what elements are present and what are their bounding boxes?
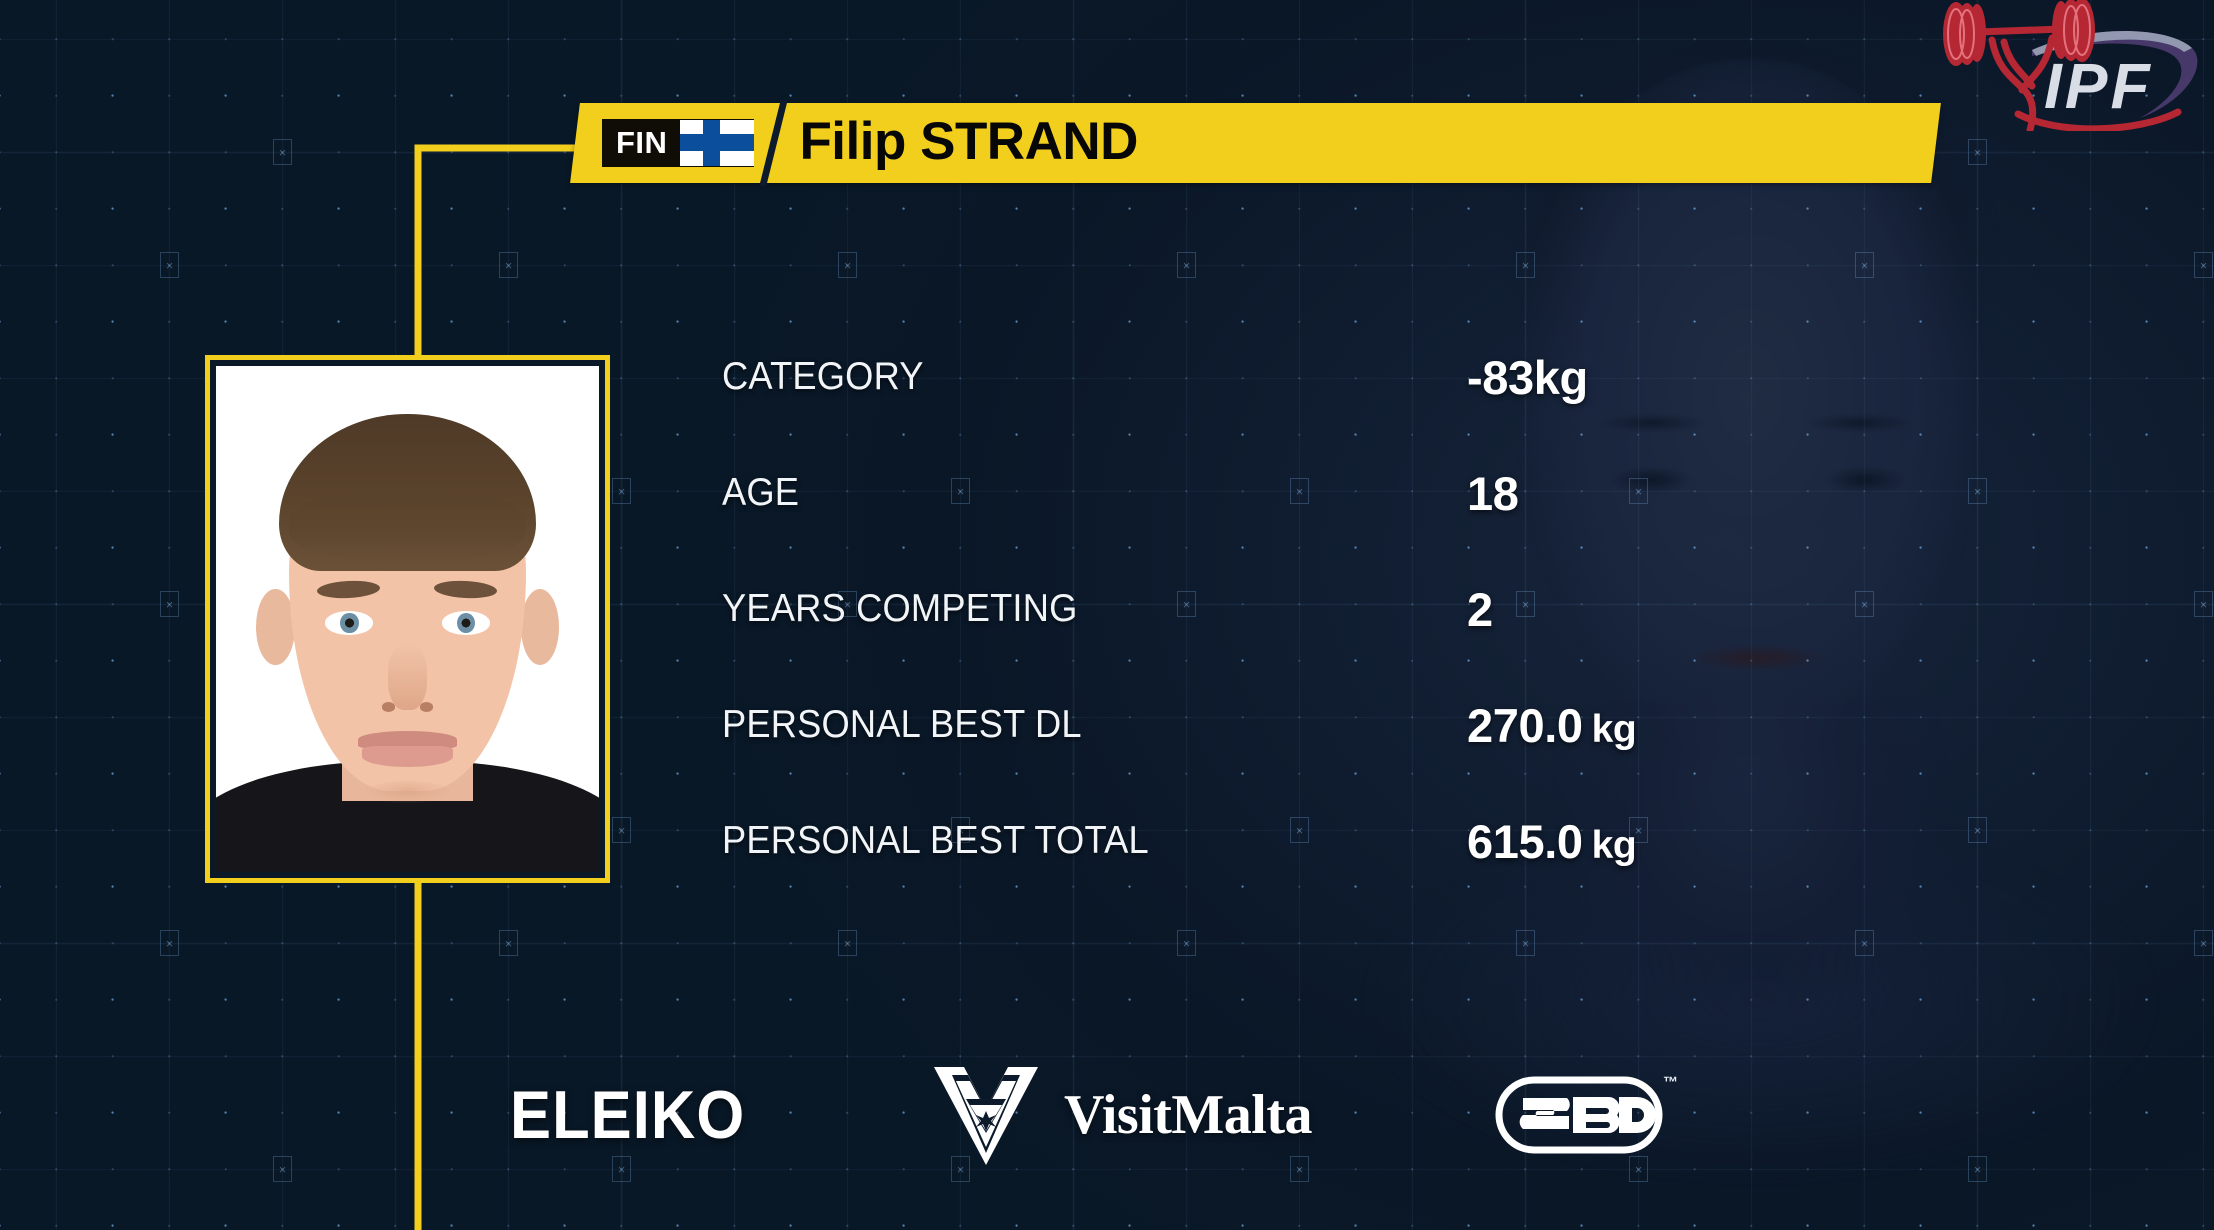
country-badge: FIN [602,119,754,167]
grid-x-marker: × [2194,252,2213,278]
athlete-stats-list: CATEGORY-83kgAGE18YEARS COMPETING2PERSON… [722,355,1872,935]
finland-flag-icon [680,120,754,166]
grid-x-marker: × [160,930,179,956]
stat-row: YEARS COMPETING2 [722,587,1872,703]
grid-x-marker: × [273,1156,292,1182]
stat-value-number: -83kg [1467,351,1588,404]
stat-row: PERSONAL BEST DL270.0kg [722,703,1872,819]
athlete-photo-frame [205,355,610,883]
grid-x-marker: × [1968,139,1987,165]
sponsor-visitmalta: VisitMalta [930,1060,1312,1170]
grid-x-marker: × [1968,1156,1987,1182]
grid-x-marker: × [499,252,518,278]
grid-x-marker: × [1177,252,1196,278]
stat-label: YEARS COMPETING [722,587,1077,631]
grid-x-marker: × [1855,252,1874,278]
sbd-trademark-symbol: ™ [1663,1074,1678,1091]
sponsor-eleiko: ELEIKO [510,1060,732,1170]
country-code-label: FIN [616,127,667,160]
sponsor-bar: ELEIKO VisitMalta [430,1060,1860,1180]
grid-x-marker: × [160,252,179,278]
athlete-name: Filip STRAND [799,115,1137,172]
grid-x-marker: × [2194,930,2213,956]
stat-value-number: 2 [1467,583,1493,636]
svg-text:IPF: IPF [2044,50,2153,122]
stat-row: PERSONAL BEST TOTAL615.0kg [722,819,1872,935]
stat-value-number: 270.0 [1467,699,1583,752]
grid-x-marker: × [499,930,518,956]
stat-value: 270.0kg [1467,698,1636,753]
banner-slash-divider [760,100,788,186]
grid-x-marker: × [1968,817,1987,843]
stat-value-number: 615.0 [1467,815,1583,868]
stat-row: AGE18 [722,471,1872,587]
visitmalta-wordmark: VisitMalta [1064,1083,1312,1147]
stat-label: PERSONAL BEST DL [722,703,1082,747]
sbd-logo-icon: ™ [1495,1076,1663,1154]
grid-x-marker: × [2194,591,2213,617]
stat-value: 615.0kg [1467,814,1636,869]
grid-x-marker: × [612,478,631,504]
stat-value-unit: kg [1592,708,1637,751]
grid-x-marker: × [1516,252,1535,278]
athlete-photo [216,366,599,872]
stat-row: CATEGORY-83kg [722,355,1872,471]
grid-x-marker: × [838,252,857,278]
stat-value-number: 18 [1467,467,1518,520]
eleiko-wordmark: ELEIKO [510,1076,745,1154]
visitmalta-chevron-icon [930,1061,1042,1169]
broadcast-lower-third-graphic: ××××××××××××××××××××××××××××××××××××××××… [0,0,2214,1230]
sponsor-sbd: ™ [1495,1060,1663,1170]
grid-x-marker: × [1968,478,1987,504]
grid-x-marker: × [160,591,179,617]
stat-value: 18 [1467,466,1518,521]
stat-value: 2 [1467,582,1493,637]
grid-x-marker: × [612,817,631,843]
grid-x-marker: × [273,139,292,165]
stat-value-unit: kg [1592,824,1637,867]
stat-label: AGE [722,471,799,515]
stat-value: -83kg [1467,350,1588,405]
athlete-name-banner: FIN Filip STRAND [570,103,1941,183]
stat-label: PERSONAL BEST TOTAL [722,819,1149,863]
ipf-logo: IPF [1940,0,2206,131]
stat-label: CATEGORY [722,355,924,399]
